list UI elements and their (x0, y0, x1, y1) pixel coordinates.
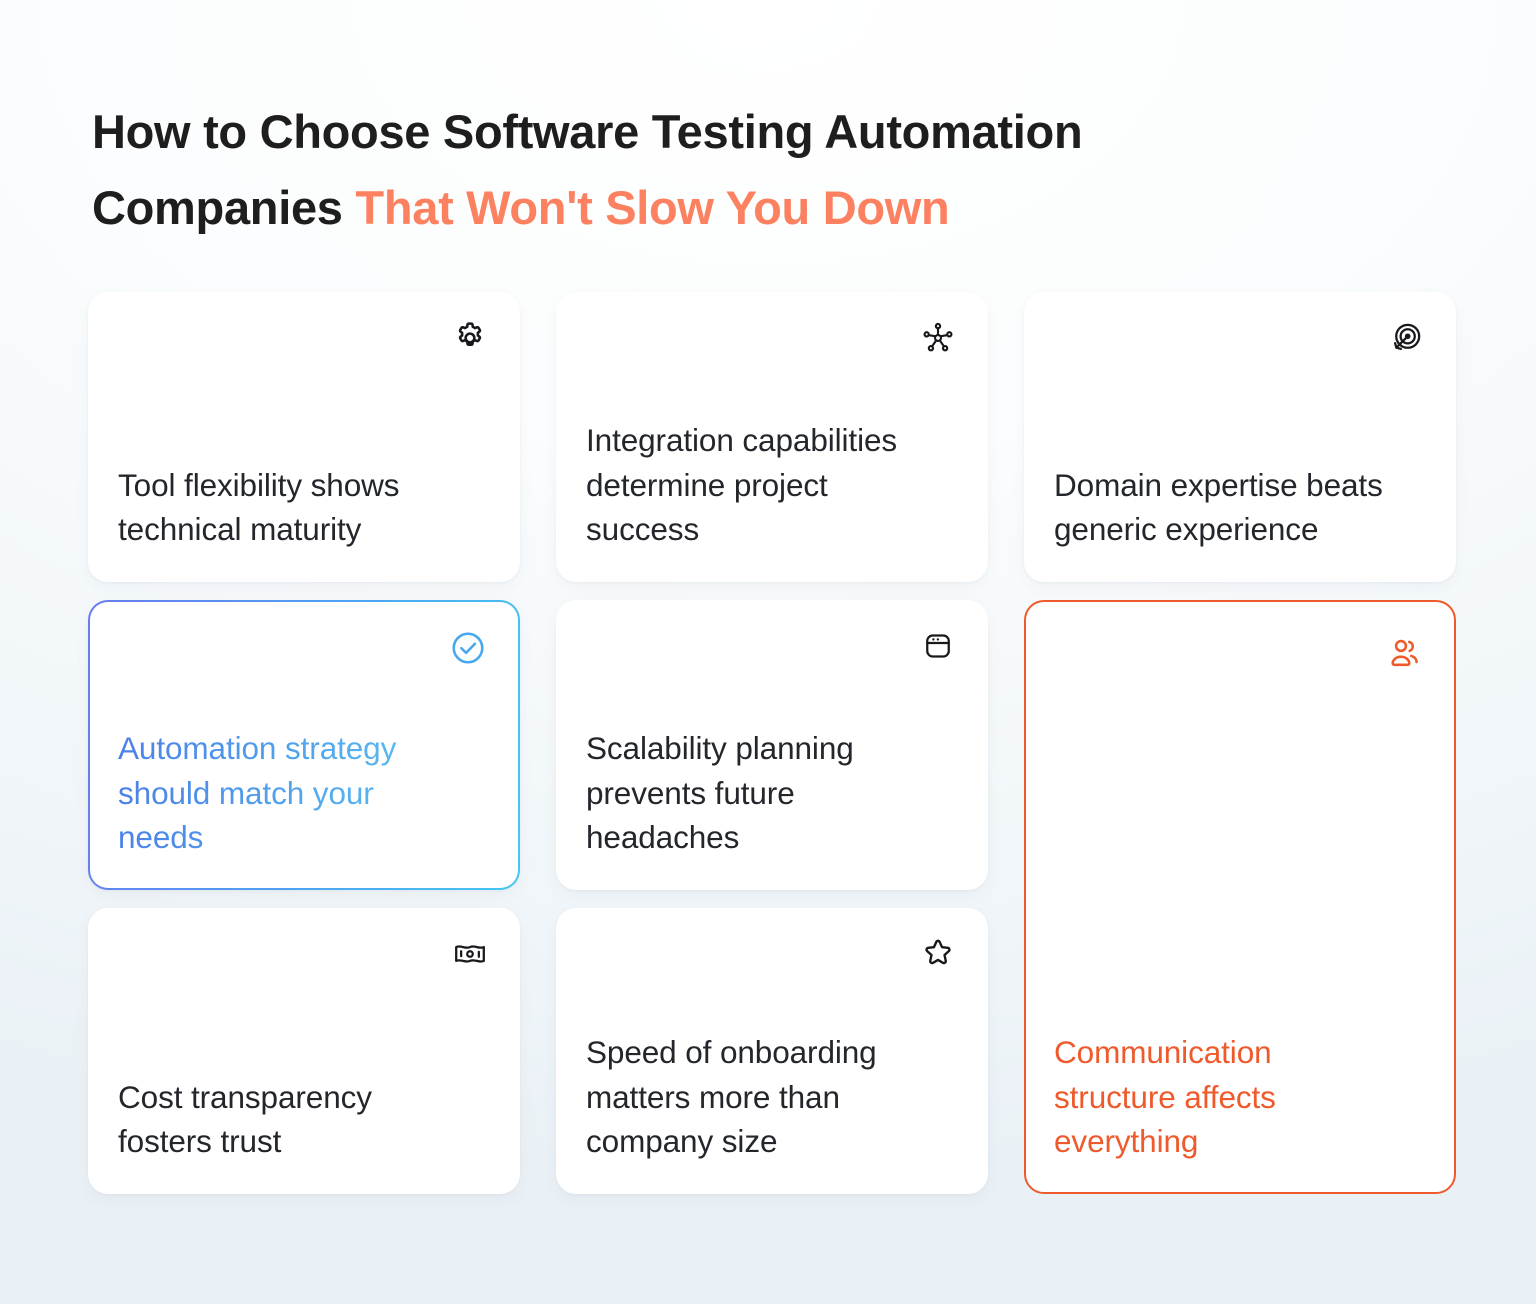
card-label: Scalability planning prevents future hea… (586, 726, 926, 860)
page-title: How to Choose Software Testing Automatio… (92, 94, 1312, 246)
infographic-page: How to Choose Software Testing Automatio… (0, 0, 1536, 1304)
browser-window-icon (918, 626, 958, 666)
card-label: Speed of onboarding matters more than co… (586, 1030, 926, 1164)
card-label: Tool flexibility shows technical maturit… (118, 463, 458, 552)
page-title-line-2-accent: That Won't Slow You Down (355, 181, 949, 234)
users-group-icon (1384, 632, 1424, 672)
card-communication-structure[interactable]: Communication structure affects everythi… (1024, 600, 1456, 1194)
card-integration-capabilities[interactable]: Integration capabilities determine proje… (556, 292, 988, 582)
card-domain-expertise[interactable]: Domain expertise beats generic experienc… (1024, 292, 1456, 582)
network-hub-icon (918, 318, 958, 358)
card-automation-strategy[interactable]: Automation strategy should match your ne… (88, 600, 520, 890)
card-label: Cost transparency fosters trust (118, 1075, 458, 1164)
card-cost-transparency[interactable]: Cost transparency fosters trust (88, 908, 520, 1194)
card-speed-of-onboarding[interactable]: Speed of onboarding matters more than co… (556, 908, 988, 1194)
star-icon (918, 934, 958, 974)
page-title-line-1: How to Choose Software Testing Automatio… (92, 105, 1082, 158)
target-arrow-icon (1386, 318, 1426, 358)
card-label: Integration capabilities determine proje… (586, 418, 926, 552)
banknote-icon (450, 934, 490, 974)
card-label: Domain expertise beats generic experienc… (1054, 463, 1394, 552)
check-circle-icon (448, 628, 488, 668)
card-tool-flexibility[interactable]: Tool flexibility shows technical maturit… (88, 292, 520, 582)
card-scalability-planning[interactable]: Scalability planning prevents future hea… (556, 600, 988, 890)
gear-icon (450, 318, 490, 358)
page-title-line-2-plain: Companies (92, 181, 355, 234)
cards-grid: Tool flexibility shows technical maturit… (88, 292, 1456, 1214)
card-label: Communication structure affects everythi… (1054, 1030, 1394, 1164)
card-label: Automation strategy should match your ne… (118, 726, 458, 860)
